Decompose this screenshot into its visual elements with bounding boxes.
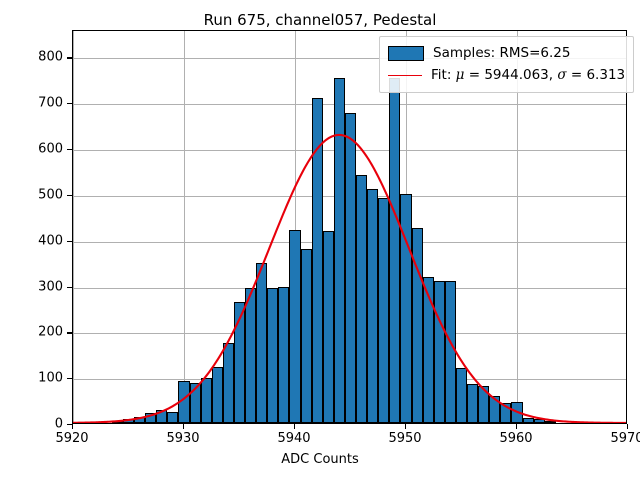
y-tick-mark	[67, 57, 72, 58]
y-tick-mark	[67, 378, 72, 379]
x-axis-title: ADC Counts	[0, 452, 640, 467]
y-tick-label: 400	[38, 233, 63, 248]
legend-item-fit: Fit: μ = 5944.063, σ = 6.313	[388, 64, 625, 86]
x-tick-mark	[516, 424, 517, 429]
y-tick-label: 200	[38, 325, 63, 340]
x-tick-label: 5960	[499, 431, 532, 446]
legend-line-icon	[388, 75, 422, 76]
y-tick-mark	[67, 149, 72, 150]
y-tick-mark	[67, 332, 72, 333]
y-tick-label: 300	[38, 279, 63, 294]
y-tick-label: 500	[38, 187, 63, 202]
y-tick-mark	[67, 195, 72, 196]
x-tick-mark	[294, 424, 295, 429]
y-tick-label: 600	[38, 142, 63, 157]
legend-patch-icon	[388, 46, 424, 61]
chart-legend: Samples: RMS=6.25 Fit: μ = 5944.063, σ =…	[379, 36, 634, 93]
y-tick-mark	[67, 241, 72, 242]
x-tick-mark	[405, 424, 406, 429]
x-tick-label: 5940	[277, 431, 310, 446]
y-tick-label: 0	[55, 417, 63, 432]
x-tick-mark	[72, 424, 73, 429]
x-tick-mark	[183, 424, 184, 429]
x-tick-label: 5920	[55, 431, 88, 446]
y-tick-label: 100	[38, 371, 63, 386]
x-tick-label: 5970	[610, 431, 640, 446]
y-tick-mark	[67, 287, 72, 288]
x-tick-label: 5930	[166, 431, 199, 446]
legend-label-fit: Fit: μ = 5944.063, σ = 6.313	[431, 67, 625, 83]
chart-title: Run 675, channel057, Pedestal	[0, 11, 640, 29]
x-tick-mark	[627, 424, 628, 429]
x-tick-label: 5950	[388, 431, 421, 446]
legend-label-samples: Samples: RMS=6.25	[433, 45, 570, 61]
y-tick-mark	[67, 103, 72, 104]
y-axis-title: Entries	[0, 204, 2, 249]
y-tick-label: 700	[38, 96, 63, 111]
chart-figure: Run 675, channel057, Pedestal Entries AD…	[0, 0, 640, 480]
legend-item-samples: Samples: RMS=6.25	[388, 42, 625, 64]
y-tick-label: 800	[38, 50, 63, 65]
